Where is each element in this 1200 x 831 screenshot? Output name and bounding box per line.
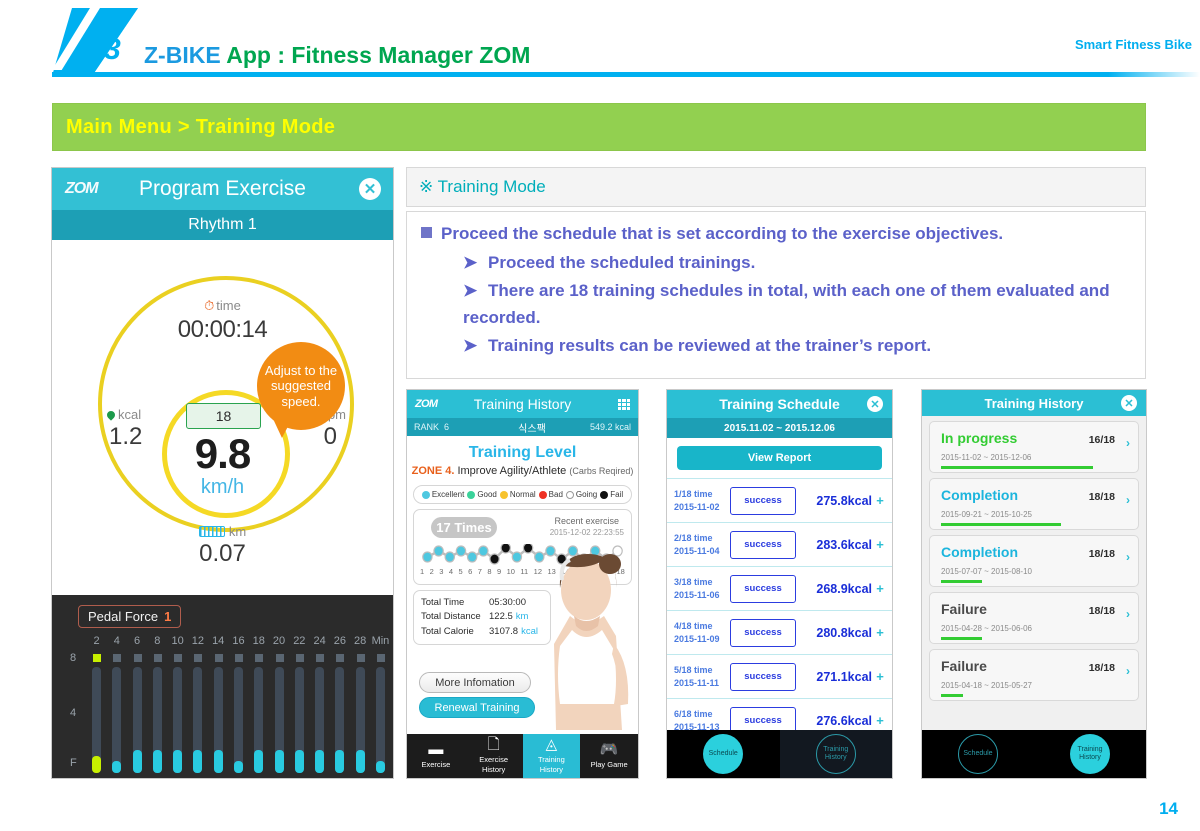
x-axis-label: 10 [172, 635, 184, 647]
grid-menu-icon[interactable] [618, 399, 630, 410]
legend-dot-icon [539, 491, 547, 499]
tab-play-game[interactable]: 🎮Play Game [580, 734, 638, 778]
progress-bar [941, 523, 1061, 526]
bar-fill [173, 750, 182, 773]
progress-bar [941, 580, 982, 583]
tab-training-history-label: Training History [816, 734, 856, 774]
training-schedule-title: Training Schedule [719, 396, 840, 412]
pedal-force-column: 6 [131, 635, 144, 775]
legend-entry: Fail [600, 490, 623, 499]
training-level-heading: Training Level [407, 444, 638, 462]
zone-description: Improve Agility/Athlete [457, 465, 566, 477]
total-value: 3107.8 [489, 625, 518, 639]
bar-track [193, 667, 202, 773]
column-marker-icon [93, 654, 101, 662]
history-date: 2015-11-02 ~ 2015-12-06 [941, 453, 1031, 462]
session-number: 5 [459, 567, 463, 576]
history-card[interactable]: In progress16/18›2015-11-02 ~ 2015-12-06 [929, 421, 1139, 473]
total-value: 05:30:00 [489, 596, 526, 610]
dumbbell-icon: ▬ [428, 742, 443, 759]
history-count: 18/18 [1089, 491, 1115, 503]
schedule-date: 2015-11-02 [674, 501, 726, 513]
schedule-date: 2015-11-06 [674, 589, 726, 601]
pedal-force-column: 2 [90, 635, 103, 775]
schedule-time: 6/18 time [674, 708, 726, 720]
more-information-button[interactable]: More Infomation [419, 672, 531, 693]
schedule-time: 1/18 time [674, 488, 726, 500]
bar-track [356, 667, 365, 773]
tab-schedule[interactable]: Schedule [922, 730, 1034, 778]
chevron-right-icon[interactable]: › [1126, 493, 1130, 507]
user-name: 식스팩 [474, 420, 590, 435]
pedal-force-column: 26 [333, 635, 346, 775]
session-dot-icon [501, 544, 510, 553]
tab-training[interactable]: ◬TrainingHistory [523, 734, 581, 778]
zone-note: (Carbs Reqired) [569, 466, 633, 476]
renewal-training-button[interactable]: Renewal Training [419, 697, 535, 718]
column-marker-icon [194, 654, 202, 662]
progress-bar [941, 466, 1093, 469]
session-dot-icon [423, 552, 432, 562]
bottom-tabbar: Schedule Training History [667, 730, 892, 778]
pedal-force-plot: 8 4 F 246810121416182022242628Min [70, 635, 387, 775]
total-key: Total Time [421, 596, 489, 610]
breadcrumb-banner: Main Menu > Training Mode [52, 103, 1146, 151]
header-divider [52, 72, 1200, 77]
history-date: 2015-07-07 ~ 2015-08-10 [941, 567, 1032, 576]
session-number: 11 [520, 567, 528, 576]
legend-entry: Bad [539, 490, 563, 499]
note-sub-bullet: ➤ Training results can be reviewed at th… [463, 332, 1131, 360]
history-count: 18/18 [1089, 662, 1115, 674]
pedal-force-column: 10 [171, 635, 184, 775]
tab-training-history-label: Training History [1070, 734, 1110, 774]
bottom-tabbar: Schedule Training History [922, 730, 1146, 778]
program-exercise-titlebar: ZOM Program Exercise ✕ [52, 168, 393, 210]
history-date: 2015-04-28 ~ 2015-06-06 [941, 624, 1032, 633]
session-number: 7 [478, 567, 482, 576]
legend-dot-icon [422, 491, 430, 499]
bar-track [214, 667, 223, 773]
column-marker-icon [377, 654, 385, 662]
note-main-bullet: Proceed the schedule that is set accordi… [421, 221, 1131, 247]
page-number: 14 [1159, 799, 1178, 819]
history-card[interactable]: Failure18/18›2015-04-28 ~ 2015-06-06 [929, 592, 1139, 644]
x-axis-label: 24 [313, 635, 325, 647]
x-axis-label: Min [372, 635, 390, 647]
history-count: 16/18 [1089, 434, 1115, 446]
note-main-text: Proceed the schedule that is set accordi… [441, 221, 1003, 247]
column-marker-icon [316, 654, 324, 662]
pedal-force-column: 14 [212, 635, 225, 775]
pedal-force-column: 18 [252, 635, 265, 775]
history-status: Failure [941, 658, 987, 674]
expand-icon[interactable]: + [872, 493, 888, 508]
pedal-force-column: 20 [273, 635, 286, 775]
program-exercise-title: Program Exercise [139, 177, 306, 201]
section-number: 03 [88, 33, 120, 67]
total-key: Total Calorie [421, 625, 489, 639]
session-dot-icon [490, 554, 499, 564]
legend-label: Good [477, 490, 497, 499]
schedule-status[interactable]: success [730, 663, 796, 691]
column-marker-icon [235, 654, 243, 662]
expand-icon[interactable]: + [872, 669, 888, 684]
training-schedule-titlebar: Training Schedule ✕ [667, 390, 892, 418]
schedule-kcal: 280.8kcal [796, 626, 872, 640]
bar-fill [112, 761, 121, 773]
tab-exercise[interactable]: ▬Exercise [407, 734, 465, 778]
drop-icon [105, 409, 116, 420]
zom-logo-icon: ZOM [415, 398, 437, 410]
legend-label: Bad [549, 490, 563, 499]
history-date: 2015-04-18 ~ 2015-05-27 [941, 681, 1032, 690]
schedule-status[interactable]: success [730, 487, 796, 515]
page-header: 03 Z-BIKE App : Fitness Manager ZOM Smar… [0, 0, 1200, 90]
total-row: Total Calorie 3107.8 kcal [421, 625, 543, 639]
x-axis-label: 16 [232, 635, 244, 647]
legend-entry: Normal [500, 490, 536, 499]
header-brand-label: Smart Fitness Bike [1075, 37, 1192, 52]
distance-label: km [229, 524, 246, 539]
legend-dot-icon [467, 491, 475, 499]
schedule-row[interactable]: 3/18 time2015-11-06success268.9kcal+ [667, 566, 892, 610]
rank-value: 6 [444, 422, 474, 432]
phone-screen-training-history-detail: ZOM Training History RANK 6 식스팩 549.2 kc… [406, 389, 639, 779]
column-marker-icon [296, 654, 304, 662]
column-marker-icon [336, 654, 344, 662]
bar-track [295, 667, 304, 773]
rank-bar: RANK 6 식스팩 549.2 kcal [407, 418, 638, 436]
tab-label-second: History [482, 766, 505, 774]
speed-unit: km/h [52, 476, 393, 499]
schedule-kcal: 275.8kcal [796, 494, 872, 508]
total-key: Total Distance [421, 610, 489, 624]
note-body: Proceed the schedule that is set accordi… [406, 211, 1146, 379]
session-number: 6 [468, 567, 472, 576]
bar-fill [153, 750, 162, 773]
bar-track [234, 667, 243, 773]
schedule-row[interactable]: 1/18 time2015-11-02success275.8kcal+ [667, 478, 892, 522]
expand-icon[interactable]: + [872, 537, 888, 552]
note-sub-text: Proceed the scheduled trainings. [488, 253, 755, 272]
zom-logo-icon: ZOM [65, 180, 98, 198]
note-sub-bullet: ➤ There are 18 training schedules in tot… [463, 277, 1131, 332]
pedal-force-badge: Pedal Force1 [78, 605, 181, 628]
session-number: 3 [439, 567, 443, 576]
note-header-label: ※ Training Mode [419, 177, 546, 197]
session-number: 10 [507, 567, 515, 576]
tab-exercise[interactable]: 🗋ExerciseHistory [465, 734, 523, 778]
distance-value: 0.07 [52, 540, 393, 568]
target-speed-badge: 18 [186, 403, 261, 429]
ruler-icon [199, 526, 225, 537]
history-count: 18/18 [1089, 605, 1115, 617]
bar-fill [214, 750, 223, 773]
training-history-title: Training History [474, 396, 572, 412]
legend-label: Excellent [432, 490, 464, 499]
bar-fill [295, 750, 304, 773]
speed-tooltip: Adjust to the suggested speed. [257, 342, 345, 430]
bar-track [254, 667, 263, 773]
phone-screen-training-history-list: Training History ✕ In progress16/18›2015… [921, 389, 1147, 779]
bar-fill [376, 761, 385, 773]
arrow-bullet-icon: ➤ [463, 253, 477, 272]
schedule-status[interactable]: success [730, 619, 796, 647]
time-label-row: ⏱time [52, 298, 393, 314]
x-axis-label: 4 [114, 635, 120, 647]
schedule-when: 1/18 time2015-11-02 [674, 488, 726, 512]
pedal-force-label: Pedal Force [88, 609, 158, 624]
bar-track [153, 667, 162, 773]
column-marker-icon [357, 654, 365, 662]
close-icon[interactable]: ✕ [359, 178, 381, 200]
x-axis-label: 12 [192, 635, 204, 647]
zone-line: ZONE 4. Improve Agility/Athlete (Carbs R… [407, 465, 638, 477]
bar-fill [356, 750, 365, 773]
x-axis-label: 18 [253, 635, 265, 647]
x-axis-label: 22 [293, 635, 305, 647]
close-icon[interactable]: ✕ [1121, 395, 1137, 411]
expand-icon[interactable]: + [872, 581, 888, 596]
breadcrumb: Main Menu > Training Mode [66, 116, 335, 139]
history-count: 18/18 [1089, 548, 1115, 560]
pedal-force-chart: Pedal Force1 8 4 F 246810121416182022242… [52, 595, 393, 779]
schedule-kcal: 276.6kcal [796, 714, 872, 728]
pedal-force-value: 1 [164, 609, 171, 624]
chevron-right-icon[interactable]: › [1126, 436, 1130, 450]
x-axis-label: 28 [354, 635, 366, 647]
column-marker-icon [154, 654, 162, 662]
total-kcal: 549.2 kcal [590, 422, 631, 432]
y-axis-label: 4 [70, 707, 76, 719]
recent-exercise-value: 2015-12-02 22:23:55 [550, 528, 624, 537]
x-axis-label: 14 [212, 635, 224, 647]
session-dot-icon [434, 546, 443, 556]
total-row: Total Time 05:30:00 [421, 596, 543, 610]
close-icon[interactable]: ✕ [867, 396, 883, 412]
page-title: Z-BIKE App : Fitness Manager ZOM [144, 42, 530, 69]
bottom-tabbar: ▬Exercise🗋ExerciseHistory◬TrainingHistor… [407, 734, 638, 778]
phone-screen-program-exercise: ZOM Program Exercise ✕ Rhythm 1 ⏱time 00… [51, 167, 394, 779]
title-part-zom: ZOM [479, 42, 530, 68]
view-report-button[interactable]: View Report [677, 446, 882, 470]
history-card-list: In progress16/18›2015-11-02 ~ 2015-12-06… [922, 421, 1146, 701]
bar-fill [92, 756, 101, 773]
expand-icon[interactable]: + [872, 625, 888, 640]
bar-track [173, 667, 182, 773]
legend-dot-icon [566, 491, 574, 499]
legend-label: Fail [610, 490, 623, 499]
history-status: Completion [941, 544, 1018, 560]
x-axis-label: 8 [154, 635, 160, 647]
bar-track [275, 667, 284, 773]
x-axis-label: 2 [93, 635, 99, 647]
schedule-time: 4/18 time [674, 620, 726, 632]
schedule-row[interactable]: 4/18 time2015-11-09success280.8kcal+ [667, 610, 892, 654]
column-marker-icon [134, 654, 142, 662]
expand-icon[interactable]: + [872, 713, 888, 728]
rhythm-subtitle: Rhythm 1 [52, 210, 393, 240]
session-dot-icon [479, 546, 488, 556]
bar-fill [193, 750, 202, 773]
arrow-bullet-icon: ➤ [463, 336, 477, 355]
bar-track [92, 667, 101, 773]
phone-screen-training-schedule: Training Schedule ✕ 2015.11.02 ~ 2015.12… [666, 389, 893, 779]
x-axis-label: 20 [273, 635, 285, 647]
training-totals: Total Time 05:30:00 Total Distance 122.5… [413, 590, 551, 645]
schedule-time: 2/18 time [674, 532, 726, 544]
schedule-time: 5/18 time [674, 664, 726, 676]
title-part-app: App : Fitness Manager [226, 42, 473, 68]
kcal-label: kcal [118, 407, 141, 422]
note-sub-bullet: ➤ Proceed the scheduled trainings. [463, 249, 1131, 277]
pedal-force-column: 4 [110, 635, 123, 775]
history-card[interactable]: Failure18/18›2015-04-18 ~ 2015-05-27 [929, 649, 1139, 701]
pedal-force-column: 22 [293, 635, 306, 775]
whistle-icon: ◬ [546, 737, 558, 754]
schedule-status[interactable]: success [730, 531, 796, 559]
bar-fill [315, 750, 324, 773]
history-card[interactable]: Completion18/18›2015-07-07 ~ 2015-08-10 [929, 535, 1139, 587]
schedule-kcal: 271.1kcal [796, 670, 872, 684]
bar-track [376, 667, 385, 773]
arrow-bullet-icon: ➤ [463, 281, 477, 300]
session-number: 4 [449, 567, 453, 576]
legend-dot-icon [500, 491, 508, 499]
gamepad-icon: 🎮 [600, 742, 619, 759]
history-status: In progress [941, 430, 1017, 446]
session-dot-icon [468, 552, 477, 562]
rank-label: RANK [414, 422, 444, 432]
speed-value: 9.8 [52, 430, 393, 478]
pedal-force-column: 28 [354, 635, 367, 775]
pedal-force-column: 16 [232, 635, 245, 775]
title-part-zbike: Z-BIKE [144, 42, 221, 68]
session-dot-icon [512, 552, 521, 562]
distance-label-row: km [52, 524, 393, 539]
column-marker-icon [113, 654, 121, 662]
schedule-date: 2015-11-11 [674, 677, 726, 689]
total-row: Total Distance 122.5 km [421, 610, 543, 624]
schedule-status[interactable]: success [730, 575, 796, 603]
column-marker-icon [215, 654, 223, 662]
chevron-right-icon[interactable]: › [1126, 664, 1130, 678]
tab-schedule[interactable]: Schedule [667, 730, 780, 778]
legend-entry: Good [467, 490, 497, 499]
pedal-force-column: 24 [313, 635, 326, 775]
tab-schedule-label: Schedule [958, 734, 998, 774]
bar-fill [133, 750, 142, 773]
schedule-row[interactable]: 5/18 time2015-11-11success271.1kcal+ [667, 654, 892, 698]
training-history-titlebar: ZOM Training History [407, 390, 638, 418]
y-axis-label: 8 [70, 652, 76, 664]
schedule-when: 5/18 time2015-11-11 [674, 664, 726, 688]
column-marker-icon [174, 654, 182, 662]
schedule-when: 3/18 time2015-11-06 [674, 576, 726, 600]
history-status: Failure [941, 601, 987, 617]
bar-track [335, 667, 344, 773]
progress-bar [941, 637, 982, 640]
legend-entry: Going [566, 490, 597, 499]
history-date: 2015-09-21 ~ 2015-10-25 [941, 510, 1032, 519]
stopwatch-icon: ⏱ [204, 298, 214, 313]
bar-track [315, 667, 324, 773]
history-status: Completion [941, 487, 1018, 503]
chevron-right-icon[interactable]: › [1126, 607, 1130, 621]
session-number: 2 [430, 567, 434, 576]
history-list-title: Training History [985, 396, 1084, 411]
session-number: 9 [497, 567, 501, 576]
note-sub-text: Training results can be reviewed at the … [488, 336, 931, 355]
schedule-rows: 1/18 time2015-11-02success275.8kcal+2/18… [667, 478, 892, 742]
zone-label: ZONE 4. [412, 465, 455, 477]
legend-entry: Excellent [422, 490, 464, 499]
schedule-date: 2015-11-04 [674, 545, 726, 557]
schedule-when: 2/18 time2015-11-04 [674, 532, 726, 556]
y-axis-label: F [70, 757, 77, 769]
total-unit: km [516, 610, 529, 624]
session-dot-icon [456, 546, 465, 556]
tab-label: Exercise [421, 761, 450, 769]
kcal-label-row: kcal [107, 407, 141, 422]
result-legend: ExcellentGoodNormalBadGoingFail [413, 485, 632, 504]
legend-dot-icon [600, 491, 608, 499]
note-header: ※ Training Mode [406, 167, 1146, 207]
tab-label: Training [538, 756, 565, 764]
schedule-kcal: 283.6kcal [796, 538, 872, 552]
bar-fill [234, 761, 243, 773]
bar-track [112, 667, 121, 773]
session-number: 8 [487, 567, 491, 576]
schedule-kcal: 268.9kcal [796, 582, 872, 596]
bar-fill [275, 750, 284, 773]
session-dot-icon [445, 552, 454, 562]
column-marker-icon [276, 654, 284, 662]
schedule-when: 4/18 time2015-11-09 [674, 620, 726, 644]
time-value: 00:00:14 [52, 316, 393, 344]
session-number: 1 [420, 567, 424, 576]
schedule-when: 6/18 time2015-11-13 [674, 708, 726, 732]
x-axis-label: 26 [334, 635, 346, 647]
pedal-force-column: Min [374, 635, 387, 775]
schedule-row[interactable]: 2/18 time2015-11-04success283.6kcal+ [667, 522, 892, 566]
total-unit: kcal [521, 625, 538, 639]
square-bullet-icon [421, 227, 432, 238]
schedule-date: 2015-11-09 [674, 633, 726, 645]
exercise-gauge: ⏱time 00:00:14 kcal 1.2 rpm 0 18 9.8 km/… [52, 240, 393, 595]
bar-fill [254, 750, 263, 773]
recent-exercise-label: Recent exercise [554, 516, 619, 526]
legend-label: Going [576, 490, 597, 499]
progress-bar [941, 694, 963, 697]
column-marker-icon [255, 654, 263, 662]
pedal-force-column: 12 [191, 635, 204, 775]
time-label: time [216, 298, 241, 313]
chevron-right-icon[interactable]: › [1126, 550, 1130, 564]
x-axis-label: 6 [134, 635, 140, 647]
times-badge: 17 Times [431, 517, 497, 538]
tab-label: Exercise [479, 756, 508, 764]
tab-label-second: History [540, 766, 563, 774]
history-card[interactable]: Completion18/18›2015-09-21 ~ 2015-10-25 [929, 478, 1139, 530]
tab-training-history[interactable]: Training History [1034, 730, 1146, 778]
total-value: 122.5 [489, 610, 513, 624]
tab-schedule-label: Schedule [703, 734, 743, 774]
tab-label: Play Game [591, 761, 628, 769]
legend-label: Normal [510, 490, 536, 499]
tab-training-history[interactable]: Training History [780, 730, 893, 778]
